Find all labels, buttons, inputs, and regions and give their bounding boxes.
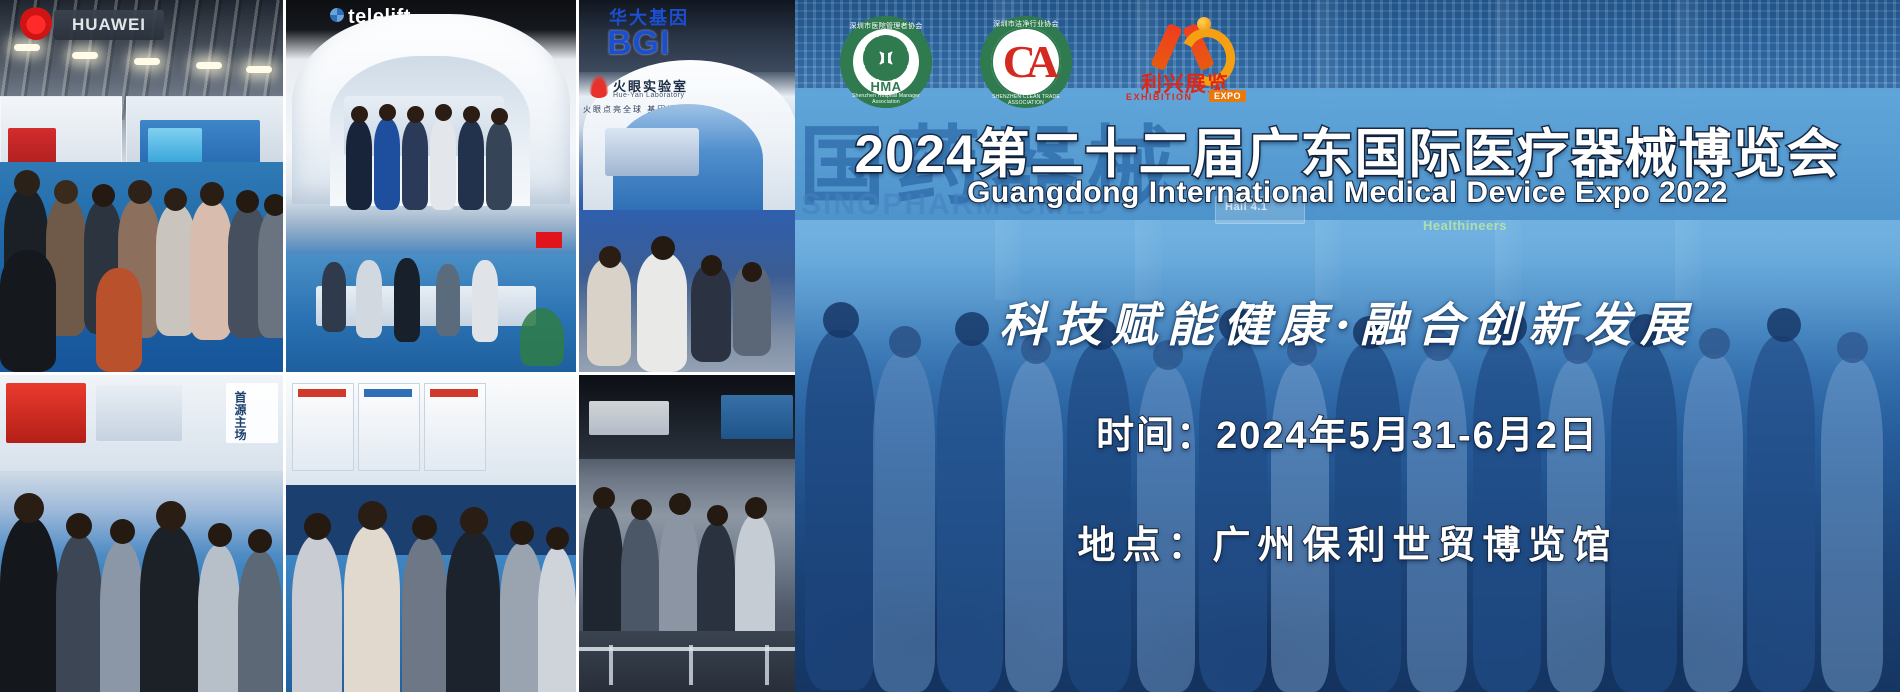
photo-entrance-gate-queue [579, 375, 801, 692]
exhibition-photo-collage: HUAWEI [0, 0, 795, 692]
booth-sign-registration-text: 首源主场 [232, 391, 249, 441]
brand-label-bgi-en: BGI [607, 24, 670, 63]
expo-promotional-banner: HUAWEI [0, 0, 1900, 692]
expo-title-en: Guangdong International Medical Device E… [967, 176, 1728, 210]
expo-text-block: 2024第二十二届广东国际医疗器械博览会 Guangdong Internati… [795, 0, 1900, 692]
photo-poster-corridor-crowd [286, 375, 576, 692]
photo-registration-area-crowd: 首源主场 [0, 375, 283, 692]
lab-label-en: Hue-Yan Laboratory [613, 92, 685, 99]
huoyan-flame-icon [589, 74, 609, 98]
expo-date: 时间：2024年5月31-6月2日 [1096, 404, 1599, 459]
expo-slogan: 科技赋能健康·融合创新发展 [999, 286, 1696, 355]
photo-bgi-huoyan-booth: 华大基因 BGI 火眼实验室 Hue-Yan Laboratory 火眼点亮全球… [579, 0, 801, 372]
expo-info-panel: 国药器械 SINOPHARM-CMED Hall 4.1 Healthineer… [795, 0, 1900, 692]
photo-huawei-booth-crowd: HUAWEI [0, 0, 283, 372]
telelift-logo-icon [330, 8, 344, 22]
booth-sign-huawei: HUAWEI [54, 10, 164, 40]
expo-venue: 地点：广州保利世贸博览馆 [1077, 514, 1617, 569]
photo-telelift-booth: telelift [286, 0, 576, 372]
